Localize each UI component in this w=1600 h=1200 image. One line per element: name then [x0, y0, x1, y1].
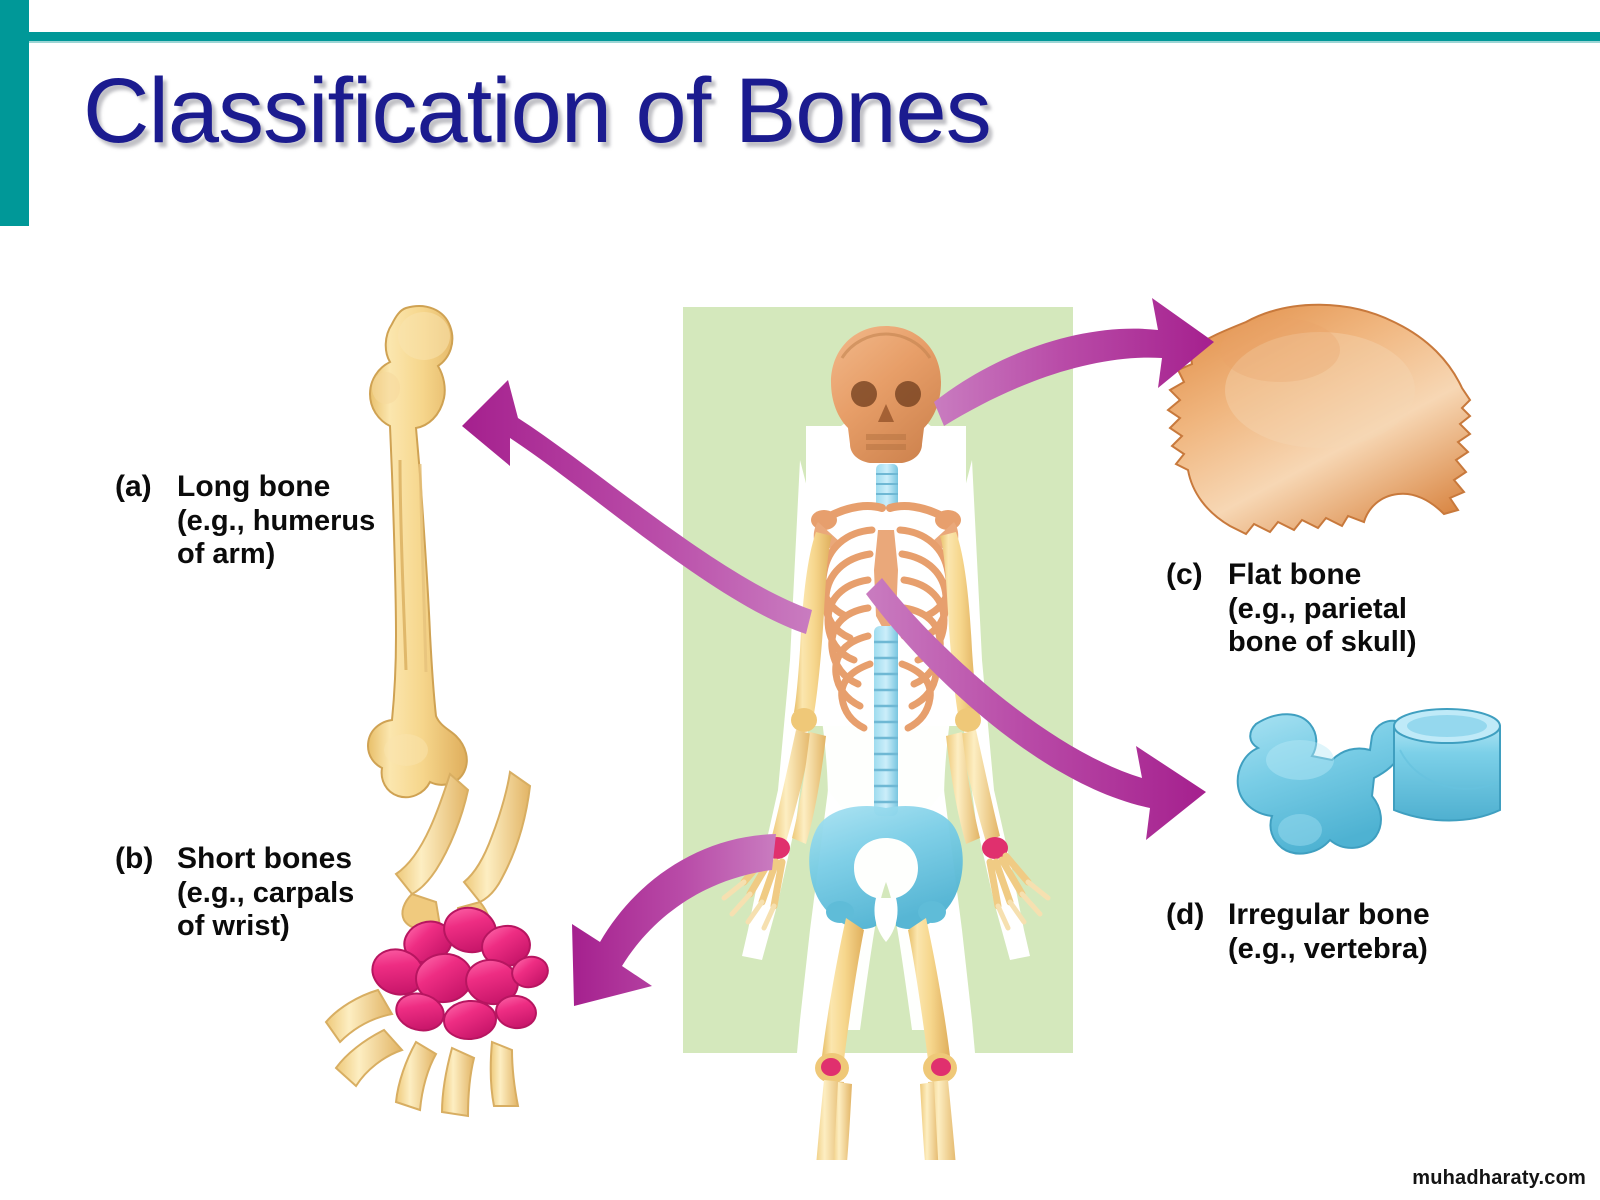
caption-short-bones-name: Short bones	[177, 842, 352, 875]
skeleton-lumbar-spine	[874, 626, 898, 816]
caption-flat-bone-name: Flat bone	[1228, 558, 1361, 591]
caption-long-bone-name: Long bone	[177, 470, 330, 503]
caption-short-bones-example-line1: (e.g., carpals	[115, 877, 354, 911]
caption-flat-bone-heading: (c)Flat bone	[1166, 558, 1417, 593]
header-accent-rule-thin	[29, 41, 1600, 43]
slide-canvas: Classification of Bones	[0, 0, 1600, 1200]
header-accent-rule	[29, 32, 1600, 41]
caption-short-bones-example-line2: of wrist)	[115, 910, 354, 944]
caption-flat-bone-example-line2: bone of skull)	[1166, 626, 1417, 660]
long-bone-illustration	[368, 306, 467, 797]
caption-long-bone-example-line2: of arm)	[115, 538, 375, 572]
caption-short-bones-letter: (b)	[115, 842, 177, 877]
short-bones-illustration	[326, 772, 551, 1116]
figure-illustration	[0, 230, 1600, 1160]
caption-irregular-bone-name: Irregular bone	[1228, 898, 1430, 931]
site-watermark: muhadharaty.com	[1412, 1167, 1586, 1190]
caption-irregular-bone-letter: (d)	[1166, 898, 1228, 933]
caption-flat-bone: (c)Flat bone (e.g., parietal bone of sku…	[1166, 558, 1417, 660]
caption-flat-bone-letter: (c)	[1166, 558, 1228, 593]
caption-irregular-bone: (d)Irregular bone (e.g., vertebra)	[1166, 898, 1430, 966]
caption-flat-bone-example-line1: (e.g., parietal	[1166, 593, 1417, 627]
bone-classification-figure	[0, 230, 1600, 1160]
caption-long-bone-letter: (a)	[115, 470, 177, 505]
page-title: Classification of Bones	[83, 61, 991, 161]
caption-irregular-bone-heading: (d)Irregular bone	[1166, 898, 1430, 933]
caption-long-bone-example-line1: (e.g., humerus	[115, 505, 375, 539]
header-accent-bar	[0, 0, 29, 226]
irregular-bone-illustration	[1238, 709, 1500, 854]
flat-bone-illustration	[1168, 305, 1470, 534]
caption-long-bone-heading: (a)Long bone	[115, 470, 375, 505]
caption-irregular-bone-example-line1: (e.g., vertebra)	[1166, 933, 1430, 967]
caption-long-bone: (a)Long bone (e.g., humerus of arm)	[115, 470, 375, 572]
caption-short-bones: (b)Short bones (e.g., carpals of wrist)	[115, 842, 354, 944]
caption-short-bones-heading: (b)Short bones	[115, 842, 354, 877]
skeleton-cervical-spine	[876, 464, 898, 508]
